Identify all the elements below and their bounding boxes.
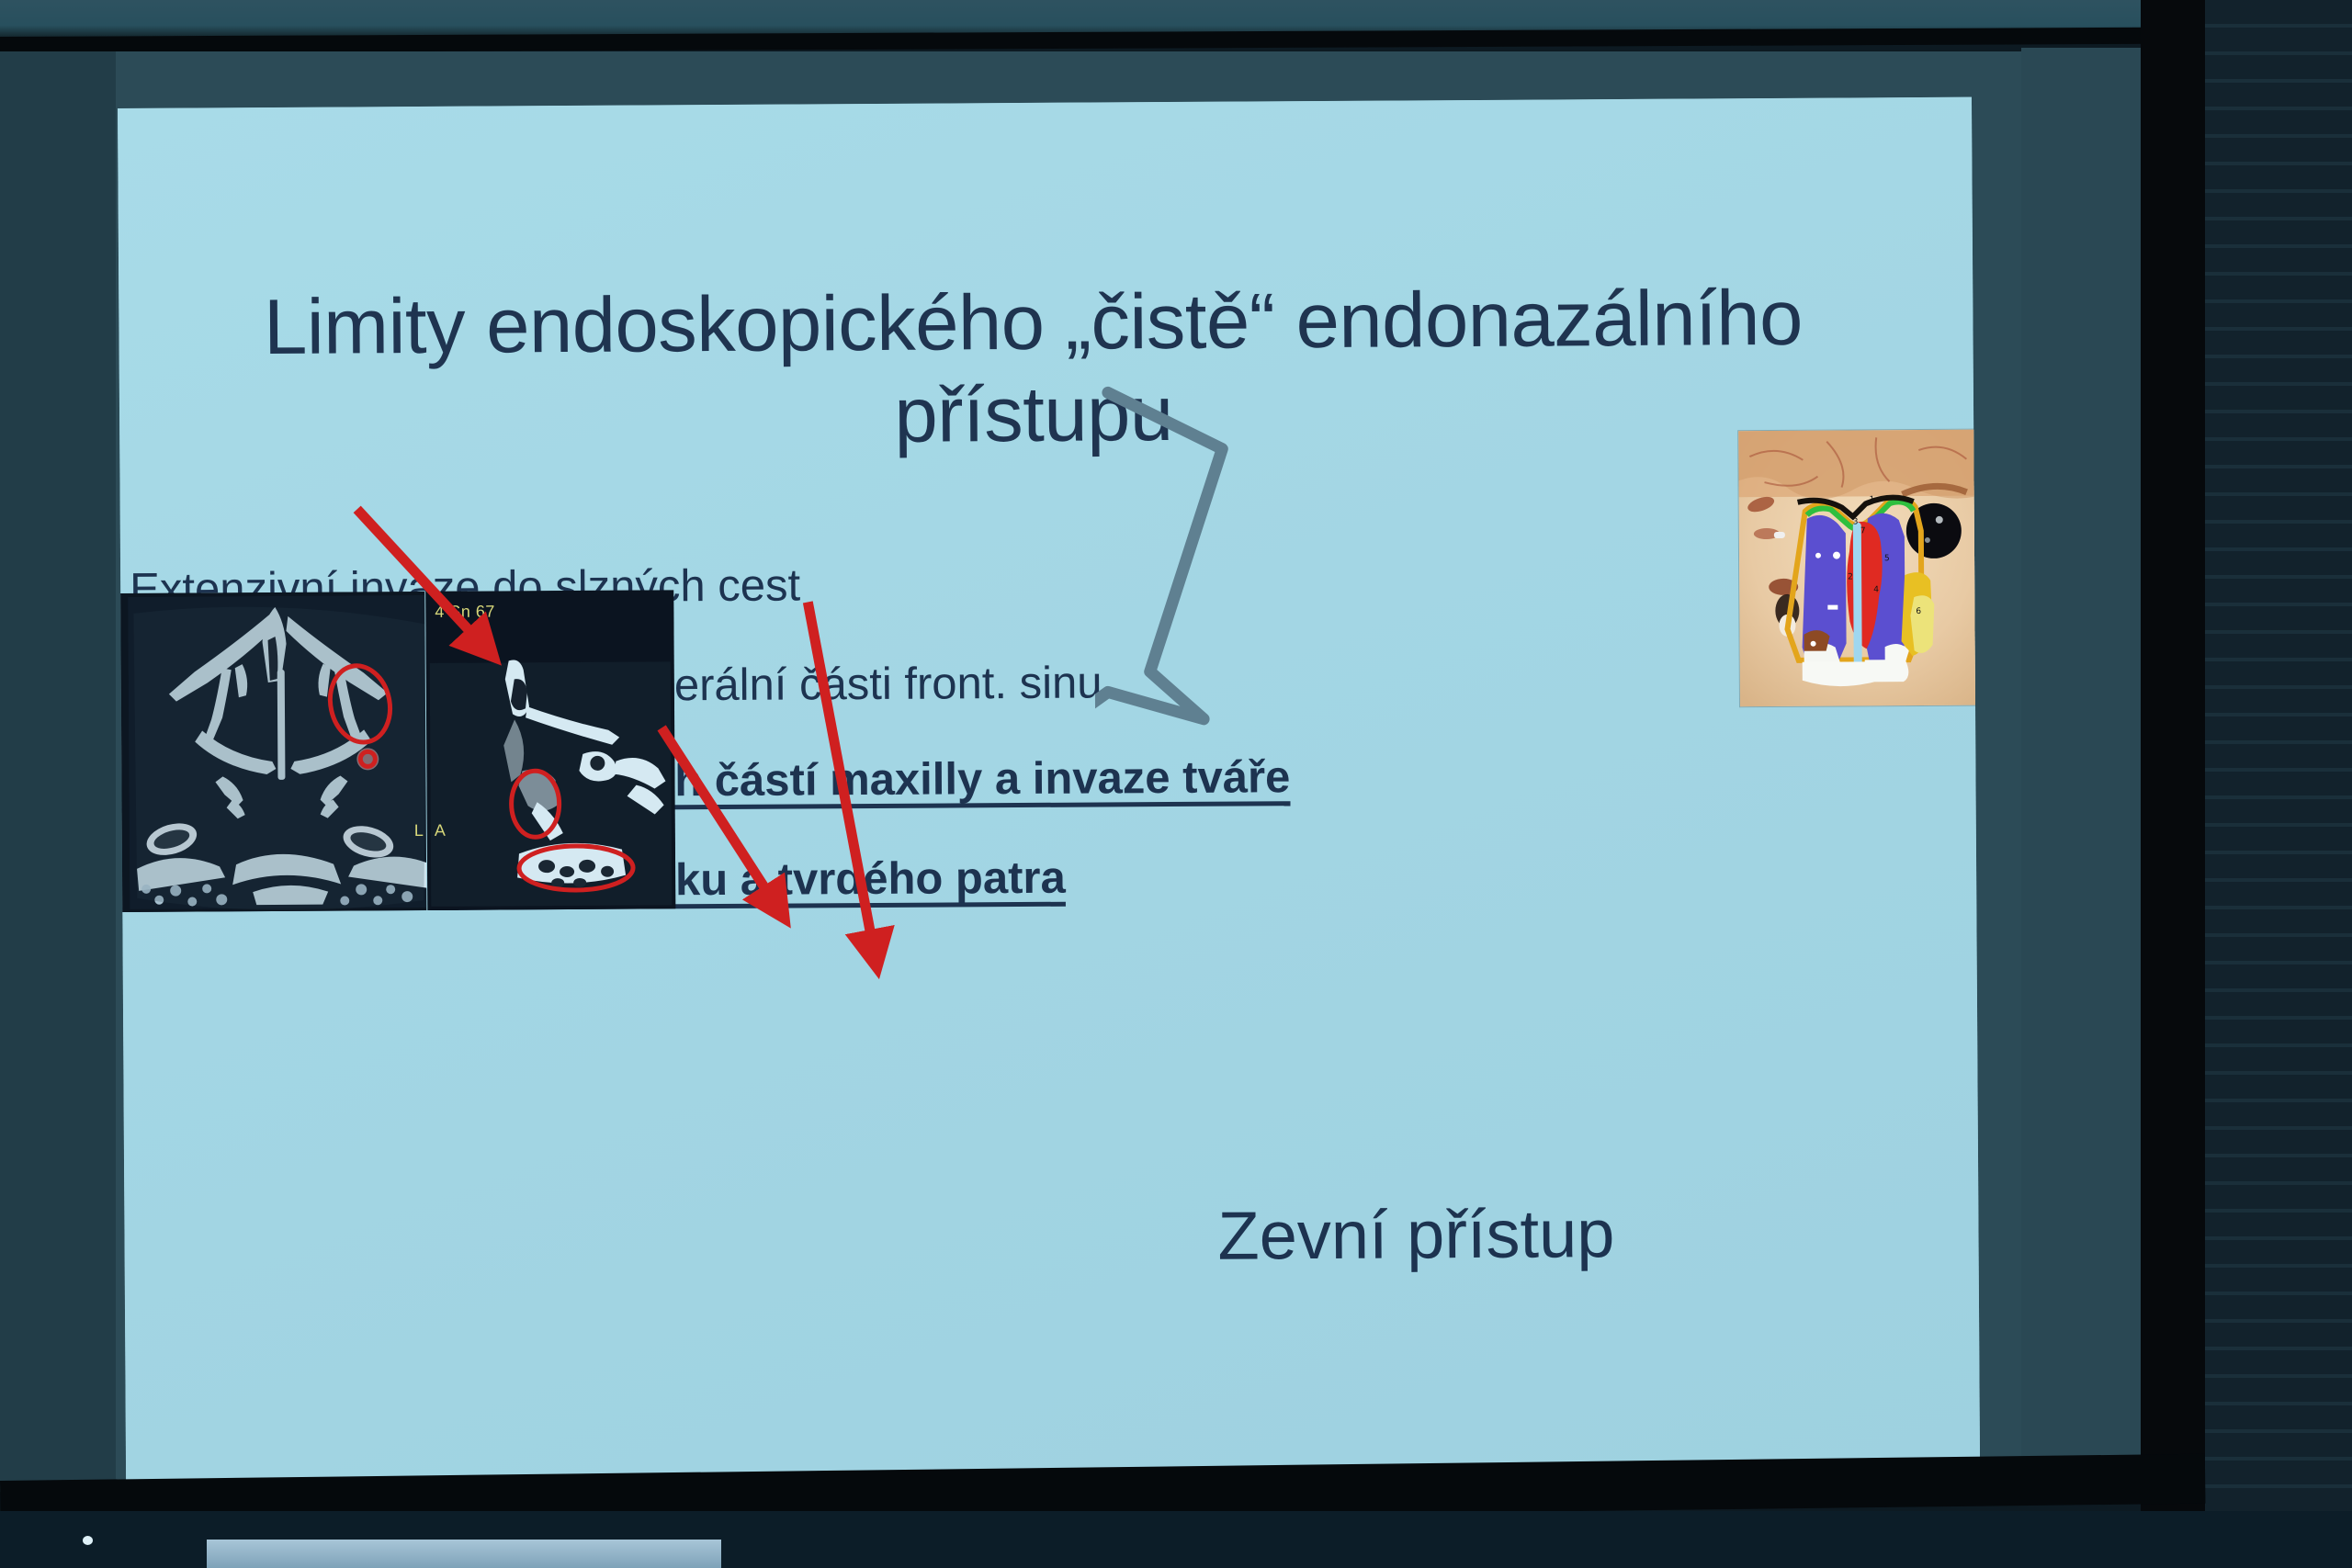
ct-axial-image [118, 592, 458, 912]
external-approach-label: Zevní přístup [1217, 1194, 1614, 1275]
slide-title-line-2: přístupu [147, 364, 1921, 467]
foreground-object [207, 1540, 721, 1568]
wall-right-blinds [2205, 0, 2352, 1568]
anatomical-coronal-section-image: 1 3 7 2 5 4 6 [1738, 430, 1980, 707]
indicator-light [83, 1536, 93, 1545]
ct-sagittal-graphic [425, 590, 675, 910]
projected-slide: Limity endoskopického „čistě“ endonazáln… [118, 97, 1980, 1482]
slide-title: Limity endoskopického „čistě“ endonazáln… [146, 272, 1920, 467]
ct-series-label: 4 Sn 67 [435, 603, 495, 622]
svg-text:1: 1 [1870, 495, 1875, 504]
svg-text:3: 3 [1853, 517, 1859, 526]
svg-text:4: 4 [1873, 585, 1879, 594]
svg-text:7: 7 [1860, 526, 1866, 536]
ct-left-marker: L [414, 821, 424, 840]
slide-title-line-1: Limity endoskopického „čistě“ endonazáln… [146, 272, 1920, 375]
ct-axial-graphic [118, 592, 458, 912]
ct-sagittal-image: 4 Sn 67 A [425, 590, 675, 910]
svg-text:6: 6 [1916, 607, 1921, 616]
svg-text:2: 2 [1848, 572, 1853, 581]
screen-surround-left-shadow [0, 51, 116, 1492]
wall-dark-strip [2141, 0, 2212, 1568]
anatomical-illustration: 1 3 7 2 5 4 6 [1738, 430, 1980, 707]
room-photograph: Limity endoskopického „čistě“ endonazáln… [0, 0, 2352, 1568]
svg-text:5: 5 [1884, 554, 1890, 563]
ct-anterior-marker: A [435, 821, 447, 840]
